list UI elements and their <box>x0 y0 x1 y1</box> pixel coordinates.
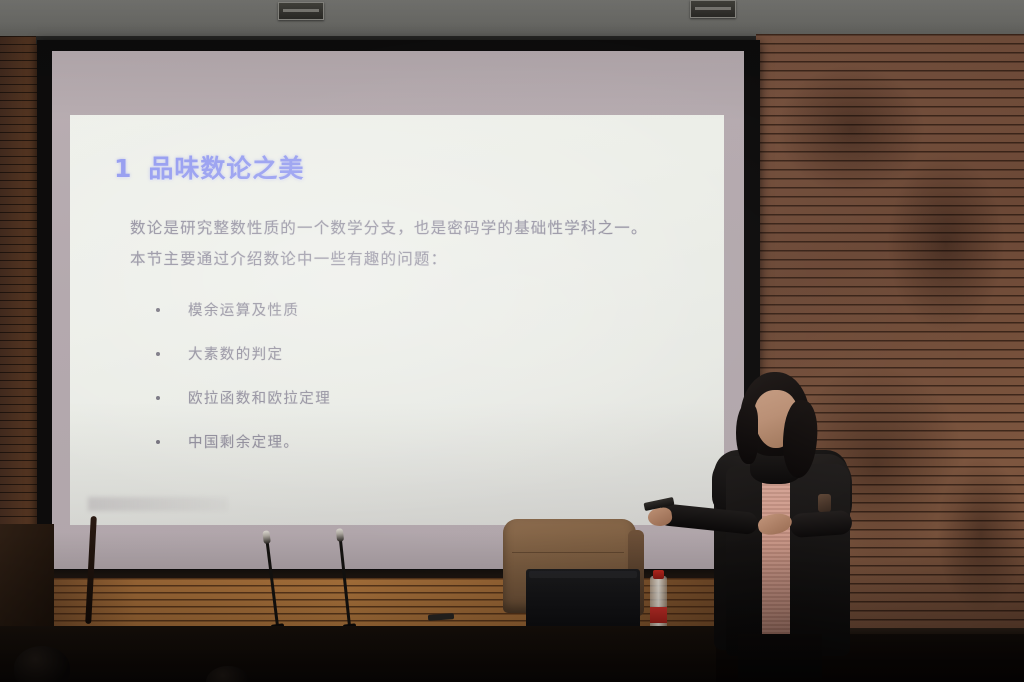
wall-stain <box>886 154 1006 334</box>
slide-title-text: 品味数论之美 <box>148 154 304 183</box>
bullet-label: 大素数的判定 <box>188 343 283 364</box>
ceiling-light-icon <box>278 2 324 20</box>
slide-title-number: 1 <box>114 154 132 183</box>
microphone-head-icon <box>336 528 344 542</box>
bullet-dot-icon <box>156 440 160 444</box>
audience-head <box>14 646 70 682</box>
desk-front-panel <box>0 626 716 682</box>
bullet-dot-icon <box>156 352 160 356</box>
wall-stain <box>936 454 1024 614</box>
list-item: 模余运算及性质 <box>156 299 694 320</box>
presenter-hair-left <box>736 404 758 464</box>
monitor-bezel <box>529 571 637 578</box>
bullet-dot-icon <box>156 308 160 312</box>
bullet-dot-icon <box>156 396 160 400</box>
list-item: 欧拉函数和欧拉定理 <box>156 387 694 408</box>
ceiling-light-icon <box>690 0 736 18</box>
presenter-arm-right <box>789 510 853 538</box>
bullet-label: 中国剩余定理。 <box>188 431 299 452</box>
monitor <box>526 569 640 629</box>
lecture-hall-scene: 1品味数论之美 数论是研究整数性质的一个数学分支，也是密码学的基础性学科之一。 … <box>0 0 1024 682</box>
projection-artifact <box>88 497 228 511</box>
projected-slide-area: 1品味数论之美 数论是研究整数性质的一个数学分支，也是密码学的基础性学科之一。 … <box>70 115 724 525</box>
bullet-label: 欧拉函数和欧拉定理 <box>188 387 331 408</box>
list-item: 大素数的判定 <box>156 343 694 364</box>
presenter-coat-badge <box>818 494 831 512</box>
slide-bullet-list: 模余运算及性质 大素数的判定 欧拉函数和欧拉定理 中国剩余定理。 <box>156 299 694 452</box>
wall-stain <box>776 64 926 194</box>
chair-seam <box>512 552 624 553</box>
slide-body-line: 本节主要通过介绍数论中一些有趣的问题： <box>130 244 694 275</box>
bullet-label: 模余运算及性质 <box>188 299 299 320</box>
presenter <box>640 372 870 682</box>
slide-content: 1品味数论之美 数论是研究整数性质的一个数学分支，也是密码学的基础性学科之一。 … <box>70 115 724 525</box>
podium-side-panel <box>0 524 54 636</box>
slide-body: 数论是研究整数性质的一个数学分支，也是密码学的基础性学科之一。 本节主要通过介绍… <box>130 213 694 275</box>
presenter-coat-panel-left <box>726 466 762 656</box>
ceiling-light-slat <box>283 9 319 12</box>
microphone-head-icon <box>262 530 271 544</box>
list-item: 中国剩余定理。 <box>156 431 694 452</box>
slide-title: 1品味数论之美 <box>114 149 694 185</box>
presenter-legs <box>738 634 822 682</box>
slide-body-line: 数论是研究整数性质的一个数学分支，也是密码学的基础性学科之一。 <box>130 213 694 244</box>
ceiling-light-slat <box>695 7 731 10</box>
presenter-coat-panel-right <box>790 464 850 656</box>
